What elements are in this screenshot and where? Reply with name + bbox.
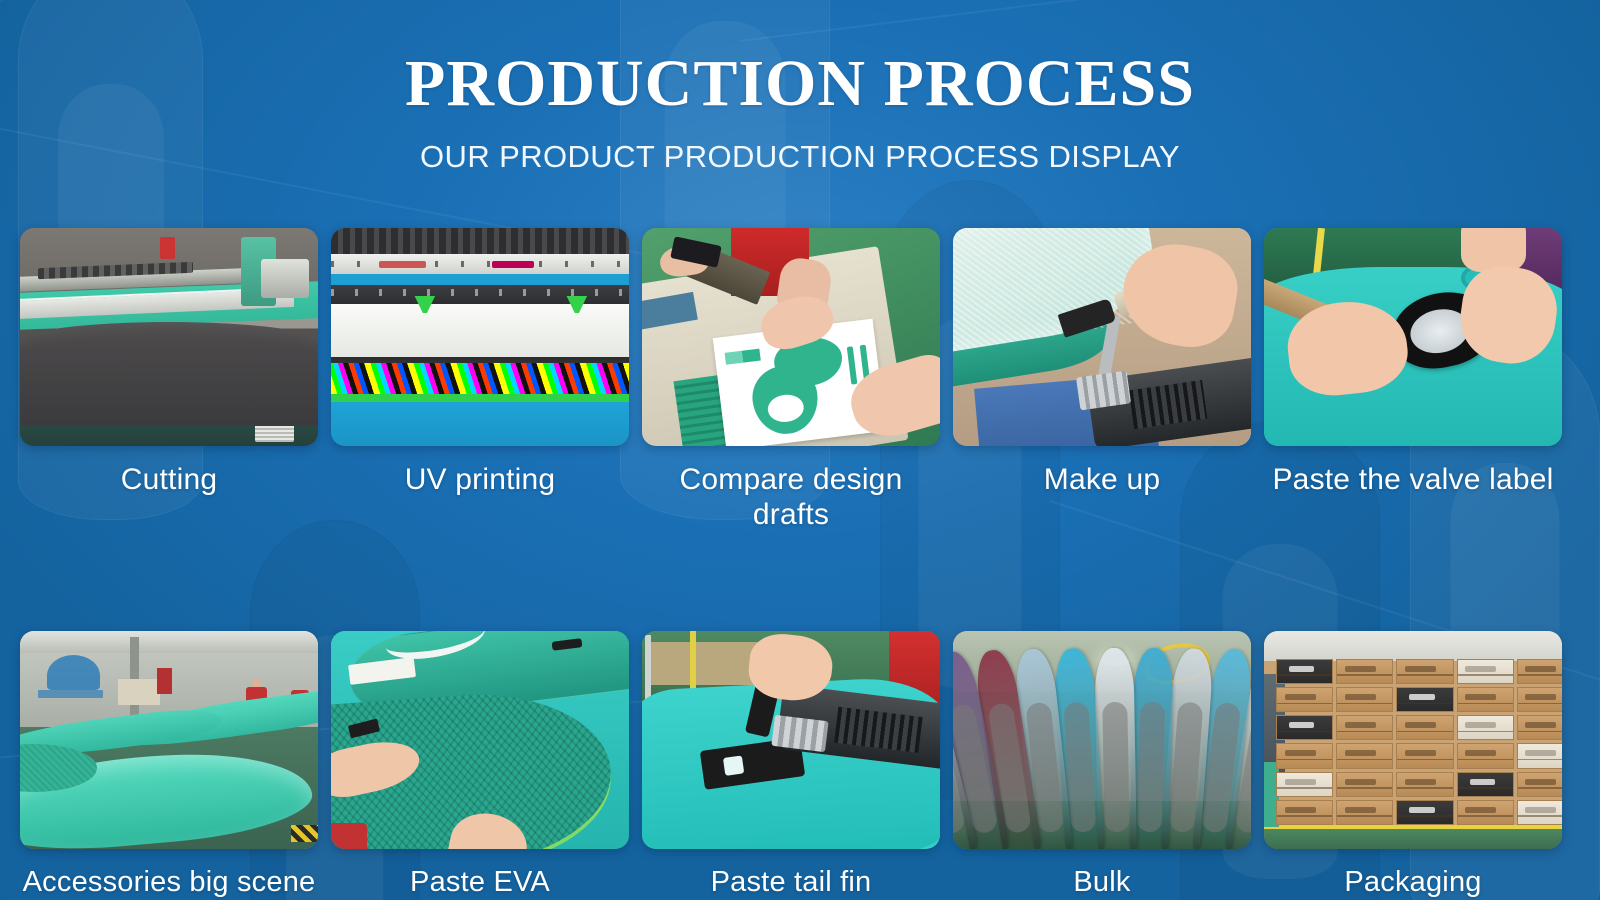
finished-boards-bulk-photo <box>953 631 1251 849</box>
step-label-packaging: Packaging <box>1264 865 1562 899</box>
carton-row <box>1276 800 1562 825</box>
cnc-cutting-machine-photo <box>20 228 318 446</box>
carton-box <box>1276 659 1333 684</box>
page-header: PRODUCTION PROCESS OUR PRODUCT PRODUCTIO… <box>0 48 1600 175</box>
step-label-valve-label: Paste the valve label <box>1264 462 1562 497</box>
carton-box <box>1276 743 1333 768</box>
page-title: PRODUCTION PROCESS <box>0 48 1600 119</box>
carton-box <box>1457 743 1514 768</box>
carton-box <box>1396 772 1453 797</box>
carton-box <box>1276 772 1333 797</box>
thumbnail-packaging[interactable] <box>1264 631 1562 849</box>
carton-box <box>1336 800 1393 825</box>
carton-box <box>1276 800 1333 825</box>
process-step-valve-label[interactable]: Paste the valve label <box>1264 228 1562 533</box>
process-step-paste-tail-fin[interactable]: Paste tail fin <box>642 631 940 899</box>
carton-box <box>1517 687 1562 712</box>
valve-label-pasting-photo <box>1264 228 1562 446</box>
carton-row <box>1276 715 1562 740</box>
thumbnail-bulk[interactable] <box>953 631 1251 849</box>
carton-box <box>1396 743 1453 768</box>
workshop-boards-lineup-photo <box>20 631 318 849</box>
carton-box <box>1517 772 1562 797</box>
carton-box <box>1396 800 1453 825</box>
carton-box <box>1457 800 1514 825</box>
carton-box <box>1457 715 1514 740</box>
carton-row <box>1276 743 1562 768</box>
thumbnail-accessories[interactable] <box>20 631 318 849</box>
carton-box <box>1336 715 1393 740</box>
process-row-1: Cutting UV printing <box>20 228 1580 533</box>
stacked-cartons-packaging-photo <box>1264 631 1562 849</box>
step-label-compare-drafts: Compare design drafts <box>642 462 940 533</box>
thumbnail-paste-eva[interactable] <box>331 631 629 849</box>
carton-box <box>1457 772 1514 797</box>
step-label-paste-eva: Paste EVA <box>331 865 629 899</box>
thumbnail-valve-label[interactable] <box>1264 228 1562 446</box>
process-step-uv-printing[interactable]: UV printing <box>331 228 629 533</box>
thumbnail-compare-drafts[interactable] <box>642 228 940 446</box>
carton-box <box>1457 687 1514 712</box>
process-step-paste-eva[interactable]: Paste EVA <box>331 631 629 899</box>
carton-box <box>1336 687 1393 712</box>
carton-box <box>1276 687 1333 712</box>
carton-box <box>1517 743 1562 768</box>
carton-box <box>1396 687 1453 712</box>
carton-box <box>1336 659 1393 684</box>
thumbnail-cutting[interactable] <box>20 228 318 446</box>
process-row-2: Accessories big scene Paste EVA <box>20 631 1580 899</box>
process-step-cutting[interactable]: Cutting <box>20 228 318 533</box>
thumbnail-uv-printing[interactable] <box>331 228 629 446</box>
step-label-uv-printing: UV printing <box>331 462 629 497</box>
carton-box <box>1517 800 1562 825</box>
tail-fin-heatgun-photo <box>642 631 940 849</box>
thumbnail-make-up[interactable] <box>953 228 1251 446</box>
process-step-bulk[interactable]: Bulk <box>953 631 1251 899</box>
carton-box <box>1396 715 1453 740</box>
page-subtitle: OUR PRODUCT PRODUCTION PROCESS DISPLAY <box>0 139 1600 175</box>
eva-deck-pad-pasting-photo <box>331 631 629 849</box>
comparing-design-drafts-photo <box>642 228 940 446</box>
step-label-make-up: Make up <box>953 462 1251 497</box>
carton-box <box>1517 659 1562 684</box>
carton-box <box>1276 715 1333 740</box>
process-step-make-up[interactable]: Make up <box>953 228 1251 533</box>
carton-box <box>1457 659 1514 684</box>
step-label-bulk: Bulk <box>953 865 1251 899</box>
step-label-paste-tail-fin: Paste tail fin <box>642 865 940 899</box>
thumbnail-paste-tail-fin[interactable] <box>642 631 940 849</box>
process-step-packaging[interactable]: Packaging <box>1264 631 1562 899</box>
carton-box <box>1396 659 1453 684</box>
assembling-rail-heatgun-photo <box>953 228 1251 446</box>
carton-row <box>1276 687 1562 712</box>
step-label-cutting: Cutting <box>20 462 318 497</box>
process-step-compare-drafts[interactable]: Compare design drafts <box>642 228 940 533</box>
carton-row <box>1276 659 1562 684</box>
step-label-accessories: Accessories big scene <box>20 865 318 899</box>
carton-box <box>1517 715 1562 740</box>
carton-row <box>1276 772 1562 797</box>
process-step-accessories[interactable]: Accessories big scene <box>20 631 318 899</box>
carton-box <box>1336 743 1393 768</box>
carton-box <box>1336 772 1393 797</box>
uv-printer-photo <box>331 228 629 446</box>
process-grid: Cutting UV printing <box>20 228 1580 899</box>
